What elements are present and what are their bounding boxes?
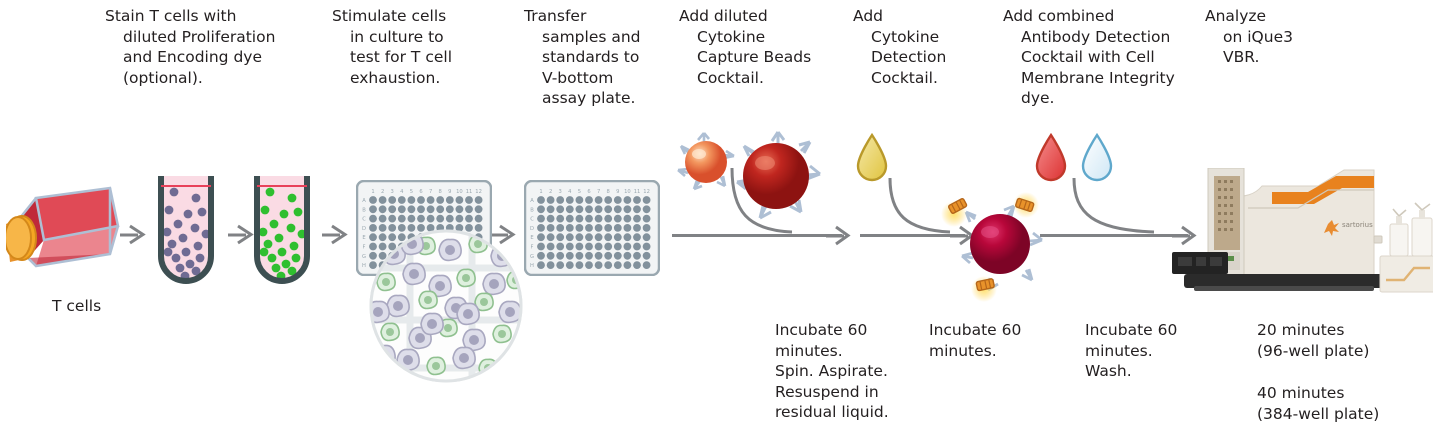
svg-text:F: F (531, 245, 534, 251)
svg-text:1: 1 (371, 189, 374, 195)
step-heading-5: Add Cytokine Detection Cocktail. (853, 6, 981, 88)
flow-arrowhead-4 (826, 222, 856, 248)
svg-text:9: 9 (448, 189, 451, 195)
svg-text:2: 2 (381, 189, 384, 195)
svg-text:7: 7 (597, 189, 600, 195)
step-heading-2: Stimulate cells in culture to test for T… (332, 6, 490, 88)
svg-text:B: B (362, 207, 366, 213)
labeled-bead-complex (938, 192, 1060, 308)
flow-arrow-tube-to-plate (322, 222, 354, 248)
t-cells-label: T cells (52, 297, 101, 315)
svg-text:7: 7 (429, 189, 432, 195)
step-heading-7: Analyze on iQue3 VBR. (1205, 6, 1333, 68)
tube-unstained-cells (152, 172, 222, 290)
membrane-integrity-dye-droplet (1076, 132, 1120, 188)
svg-text:G: G (362, 254, 366, 260)
svg-text:H: H (530, 263, 534, 269)
svg-text:C: C (530, 217, 534, 223)
caption-step-4: Incubate 60 minutes. Spin. Aspirate. Res… (775, 320, 915, 423)
svg-text:9: 9 (616, 189, 619, 195)
step-heading-4: Add diluted Cytokine Capture Beads Cockt… (679, 6, 832, 88)
caption-step-6: Incubate 60 minutes. Wash. (1085, 320, 1215, 382)
antibody-detection-droplet (1030, 132, 1074, 188)
svg-text:11: 11 (466, 189, 473, 195)
svg-text:5: 5 (578, 189, 581, 195)
svg-text:3: 3 (559, 189, 562, 195)
svg-text:10: 10 (456, 189, 463, 195)
instrument-brand-text: sartorius (1342, 221, 1373, 229)
svg-text:B: B (530, 207, 534, 213)
cytokine-detection-droplet (852, 132, 892, 188)
step-heading-3: Transfer samples and standards to V-bott… (524, 6, 667, 109)
svg-text:C: C (362, 217, 366, 223)
96-well-microplate-2: 123456789101112ABCDEFGH (524, 180, 660, 276)
caption-step-5: Incubate 60 minutes. (929, 320, 1059, 361)
svg-text:10: 10 (624, 189, 631, 195)
svg-text:3: 3 (391, 189, 394, 195)
svg-text:2: 2 (549, 189, 552, 195)
step-heading-1: Stain T cells with diluted Proliferation… (105, 6, 323, 88)
svg-text:H: H (362, 263, 366, 269)
svg-text:D: D (362, 226, 366, 232)
svg-text:5: 5 (410, 189, 413, 195)
svg-text:12: 12 (643, 189, 650, 195)
svg-text:G: G (530, 254, 534, 260)
svg-text:11: 11 (634, 189, 641, 195)
workflow-diagram: Stain T cells with diluted Proliferation… (0, 0, 1433, 447)
svg-text:6: 6 (419, 189, 422, 195)
svg-text:F: F (363, 245, 366, 251)
svg-text:D: D (530, 226, 534, 232)
caption-step-7-96well: 20 minutes (96-well plate) (1257, 320, 1427, 361)
svg-text:A: A (530, 198, 534, 204)
svg-text:E: E (362, 235, 365, 241)
svg-text:A: A (362, 198, 366, 204)
svg-text:8: 8 (439, 189, 442, 195)
svg-text:6: 6 (587, 189, 590, 195)
cell-magnifier-inset (368, 228, 524, 384)
cytokine-capture-beads (668, 126, 828, 236)
caption-step-7-384well: 40 minutes (384-well plate) (1257, 383, 1433, 424)
svg-text:8: 8 (607, 189, 610, 195)
svg-text:1: 1 (539, 189, 542, 195)
step-heading-6: Add combined Antibody Detection Cocktail… (1003, 6, 1211, 109)
ique3-vbr-instrument: sartorius (1168, 168, 1433, 294)
svg-text:E: E (530, 235, 533, 241)
tube-stained-cells (248, 172, 318, 290)
svg-text:12: 12 (475, 189, 482, 195)
cell-culture-flask (6, 170, 126, 280)
